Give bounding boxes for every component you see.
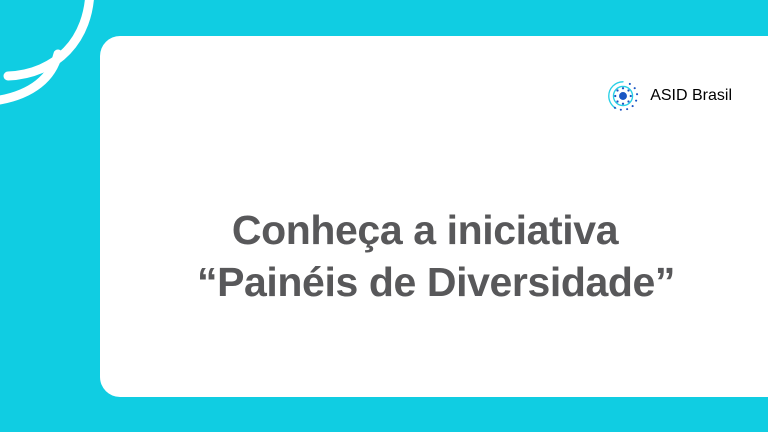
slide-canvas: ASID Brasil Conheça a iniciativa “Painéi… (0, 0, 768, 432)
asid-circle-dots-logo-icon (605, 78, 641, 114)
brand-name: ASID Brasil (650, 87, 732, 105)
page-title-line-2: “Painéis de Diversidade” (100, 256, 768, 308)
page-title-line-1: Conheça a iniciativa (100, 204, 768, 256)
page-title: Conheça a iniciativa “Painéis de Diversi… (100, 204, 768, 309)
brand-lockup: ASID Brasil (605, 78, 732, 114)
content-card: ASID Brasil Conheça a iniciativa “Painéi… (100, 36, 768, 397)
